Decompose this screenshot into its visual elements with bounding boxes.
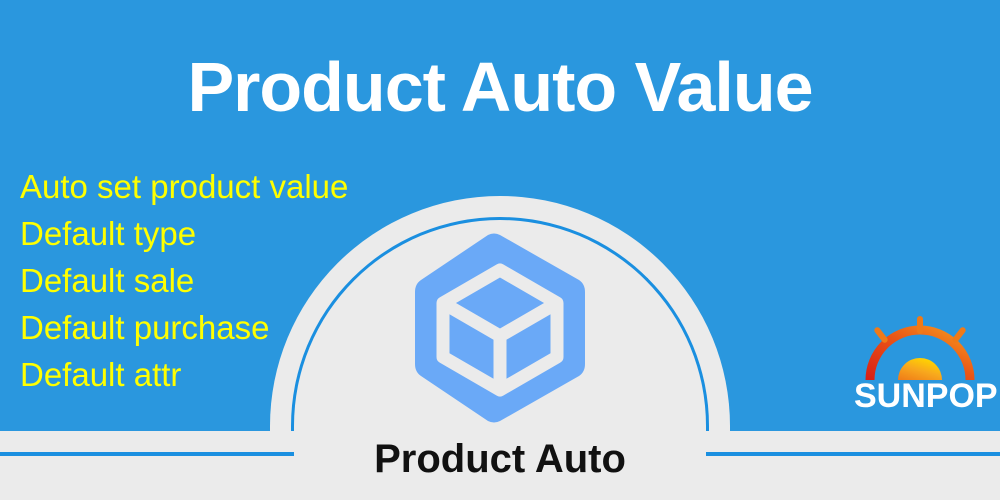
hexagon-cube-svg xyxy=(411,232,589,424)
list-item: Default type xyxy=(20,210,450,257)
sunpop-logo: SUNPOP xyxy=(854,314,986,422)
list-item: Default sale xyxy=(20,257,450,304)
page-title: Product Auto Value xyxy=(0,47,1000,127)
feature-list: Auto set product value Default type Defa… xyxy=(20,163,450,398)
sun-ray-left xyxy=(873,326,889,344)
sun-icon-svg xyxy=(854,314,986,380)
list-item: Default attr xyxy=(20,351,450,398)
sunpop-wordmark: SUNPOP xyxy=(854,376,986,416)
list-item: Auto set product value xyxy=(20,163,450,210)
product-banner: Product Auto Value Auto set product valu… xyxy=(0,0,1000,500)
sun-ray-right xyxy=(951,326,967,344)
product-caption: Product Auto xyxy=(0,434,1000,484)
sun-ray-center xyxy=(917,316,923,334)
product-cube-hexagon-icon xyxy=(411,232,589,424)
list-item: Default purchase xyxy=(20,304,450,351)
sun-mark-icon xyxy=(854,314,986,380)
